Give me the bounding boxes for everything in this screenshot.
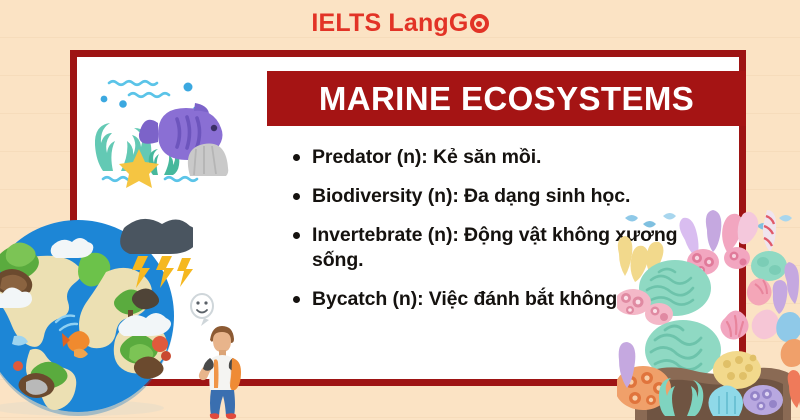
list-item: Biodiversity (n): Đa dạng sinh học. [290, 184, 730, 209]
list-item: Predator (n): Kẻ săn mồi. [290, 145, 730, 170]
target-o-icon [470, 14, 489, 33]
title-banner: MARINE ECOSYSTEMS [267, 71, 746, 126]
brand-logo: IELTSLangG [0, 9, 800, 38]
anemone-group [720, 309, 779, 339]
seashell-icon [188, 144, 228, 177]
coral-reef-illustration [617, 210, 800, 420]
brand-name-g: G [449, 9, 469, 37]
bumpy-coral-yellow [713, 351, 761, 389]
brand-name-lang: Lang [388, 9, 449, 37]
brand-name-ielts: IELTS [311, 9, 381, 37]
smiley-bubble-icon [191, 294, 213, 326]
earth-globe-illustration [0, 218, 193, 418]
ring-coral-purple [743, 385, 783, 415]
page-background: IELTSLangG [0, 0, 800, 420]
student-with-backpack-illustration [190, 292, 246, 420]
page-title: MARINE ECOSYSTEMS [319, 80, 694, 118]
sea-life-illustration [95, 71, 255, 191]
